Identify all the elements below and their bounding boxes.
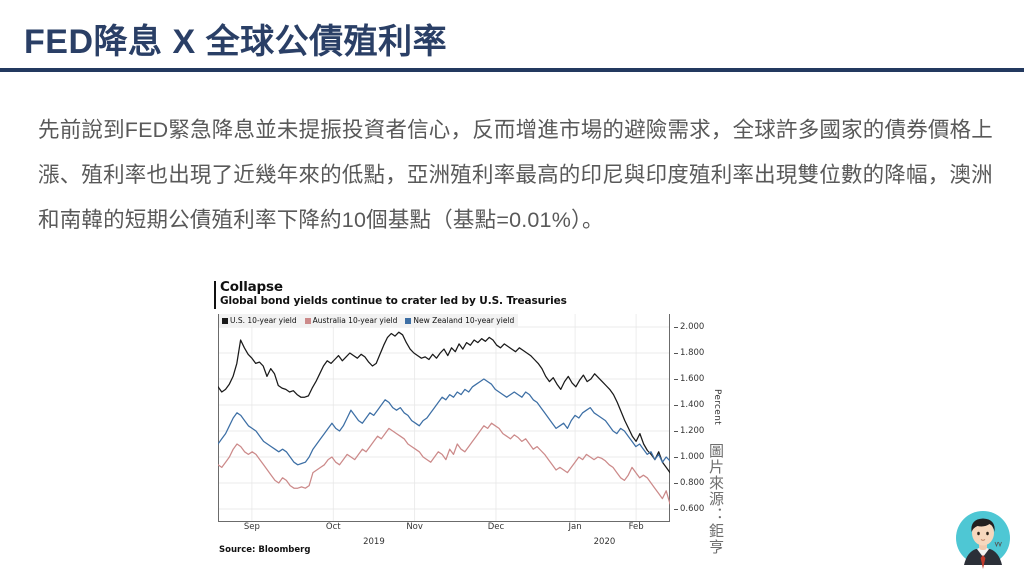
x-tick-label: Nov	[406, 522, 423, 532]
legend-entry-1: Australia 10-year yield	[305, 316, 398, 325]
legend-entry-2: New Zealand 10-year yield	[405, 316, 514, 325]
legend-swatch-icon	[222, 318, 228, 324]
y-tick-label: 2.000	[680, 322, 704, 332]
y-tick-mark	[674, 379, 678, 380]
x-tick-label: Oct	[326, 522, 341, 532]
y-tick-label: 0.600	[680, 504, 704, 514]
y-tick-mark	[674, 509, 678, 510]
title-accent-bar	[214, 281, 216, 309]
legend-swatch-icon	[305, 318, 311, 324]
y-tick-label: 0.800	[680, 478, 704, 488]
y-tick-label: 1.600	[680, 374, 704, 384]
chart-plot-area	[218, 314, 670, 522]
chart-svg	[218, 314, 670, 522]
y-axis-title: Percent	[712, 389, 722, 425]
slide-header: FED降息 X 全球公債殖利率	[0, 0, 1024, 70]
x-tick-label: Jan	[569, 522, 582, 532]
avatar-eye-left	[977, 532, 980, 535]
y-tick-mark	[674, 457, 678, 458]
legend-label: U.S. 10-year yield	[230, 316, 297, 325]
y-tick-mark	[674, 327, 678, 328]
y-tick-mark	[674, 353, 678, 354]
y-tick-label: 1.800	[680, 348, 704, 358]
y-tick-mark	[674, 483, 678, 484]
x-year-label: 2020	[594, 537, 616, 547]
y-tick-label: 1.200	[680, 426, 704, 436]
chart-title: Collapse	[220, 279, 283, 295]
legend-label: New Zealand 10-year yield	[413, 316, 514, 325]
legend-label: Australia 10-year yield	[313, 316, 398, 325]
avatar	[952, 507, 1014, 569]
y-tick-label: 1.000	[680, 452, 704, 462]
chart-subtitle: Global bond yields continue to crater le…	[220, 295, 567, 307]
x-year-label: 2019	[363, 537, 385, 547]
avatar-eye-right	[986, 532, 989, 535]
y-tick-mark	[674, 431, 678, 432]
x-tick-label: Sep	[244, 522, 260, 532]
legend-swatch-icon	[405, 318, 411, 324]
y-tick-label: 1.400	[680, 400, 704, 410]
x-tick-label: Feb	[629, 522, 644, 532]
chart-legend: U.S. 10-year yieldAustralia 10-year yiel…	[219, 314, 518, 327]
image-credit: 圖片來源：鉅亨	[708, 443, 723, 555]
x-tick-label: Dec	[488, 522, 504, 532]
legend-entry-0: U.S. 10-year yield	[222, 316, 297, 325]
body-paragraph: 先前說到FED緊急降息並未提振投資者信心，反而增進市場的避險需求，全球許多國家的…	[38, 108, 998, 243]
bond-yield-chart: Collapse Global bond yields continue to …	[214, 281, 680, 564]
header-divider	[0, 68, 1024, 72]
chart-source: Source: Bloomberg	[219, 545, 310, 555]
page-title: FED降息 X 全球公債殖利率	[24, 14, 447, 63]
y-tick-mark	[674, 405, 678, 406]
